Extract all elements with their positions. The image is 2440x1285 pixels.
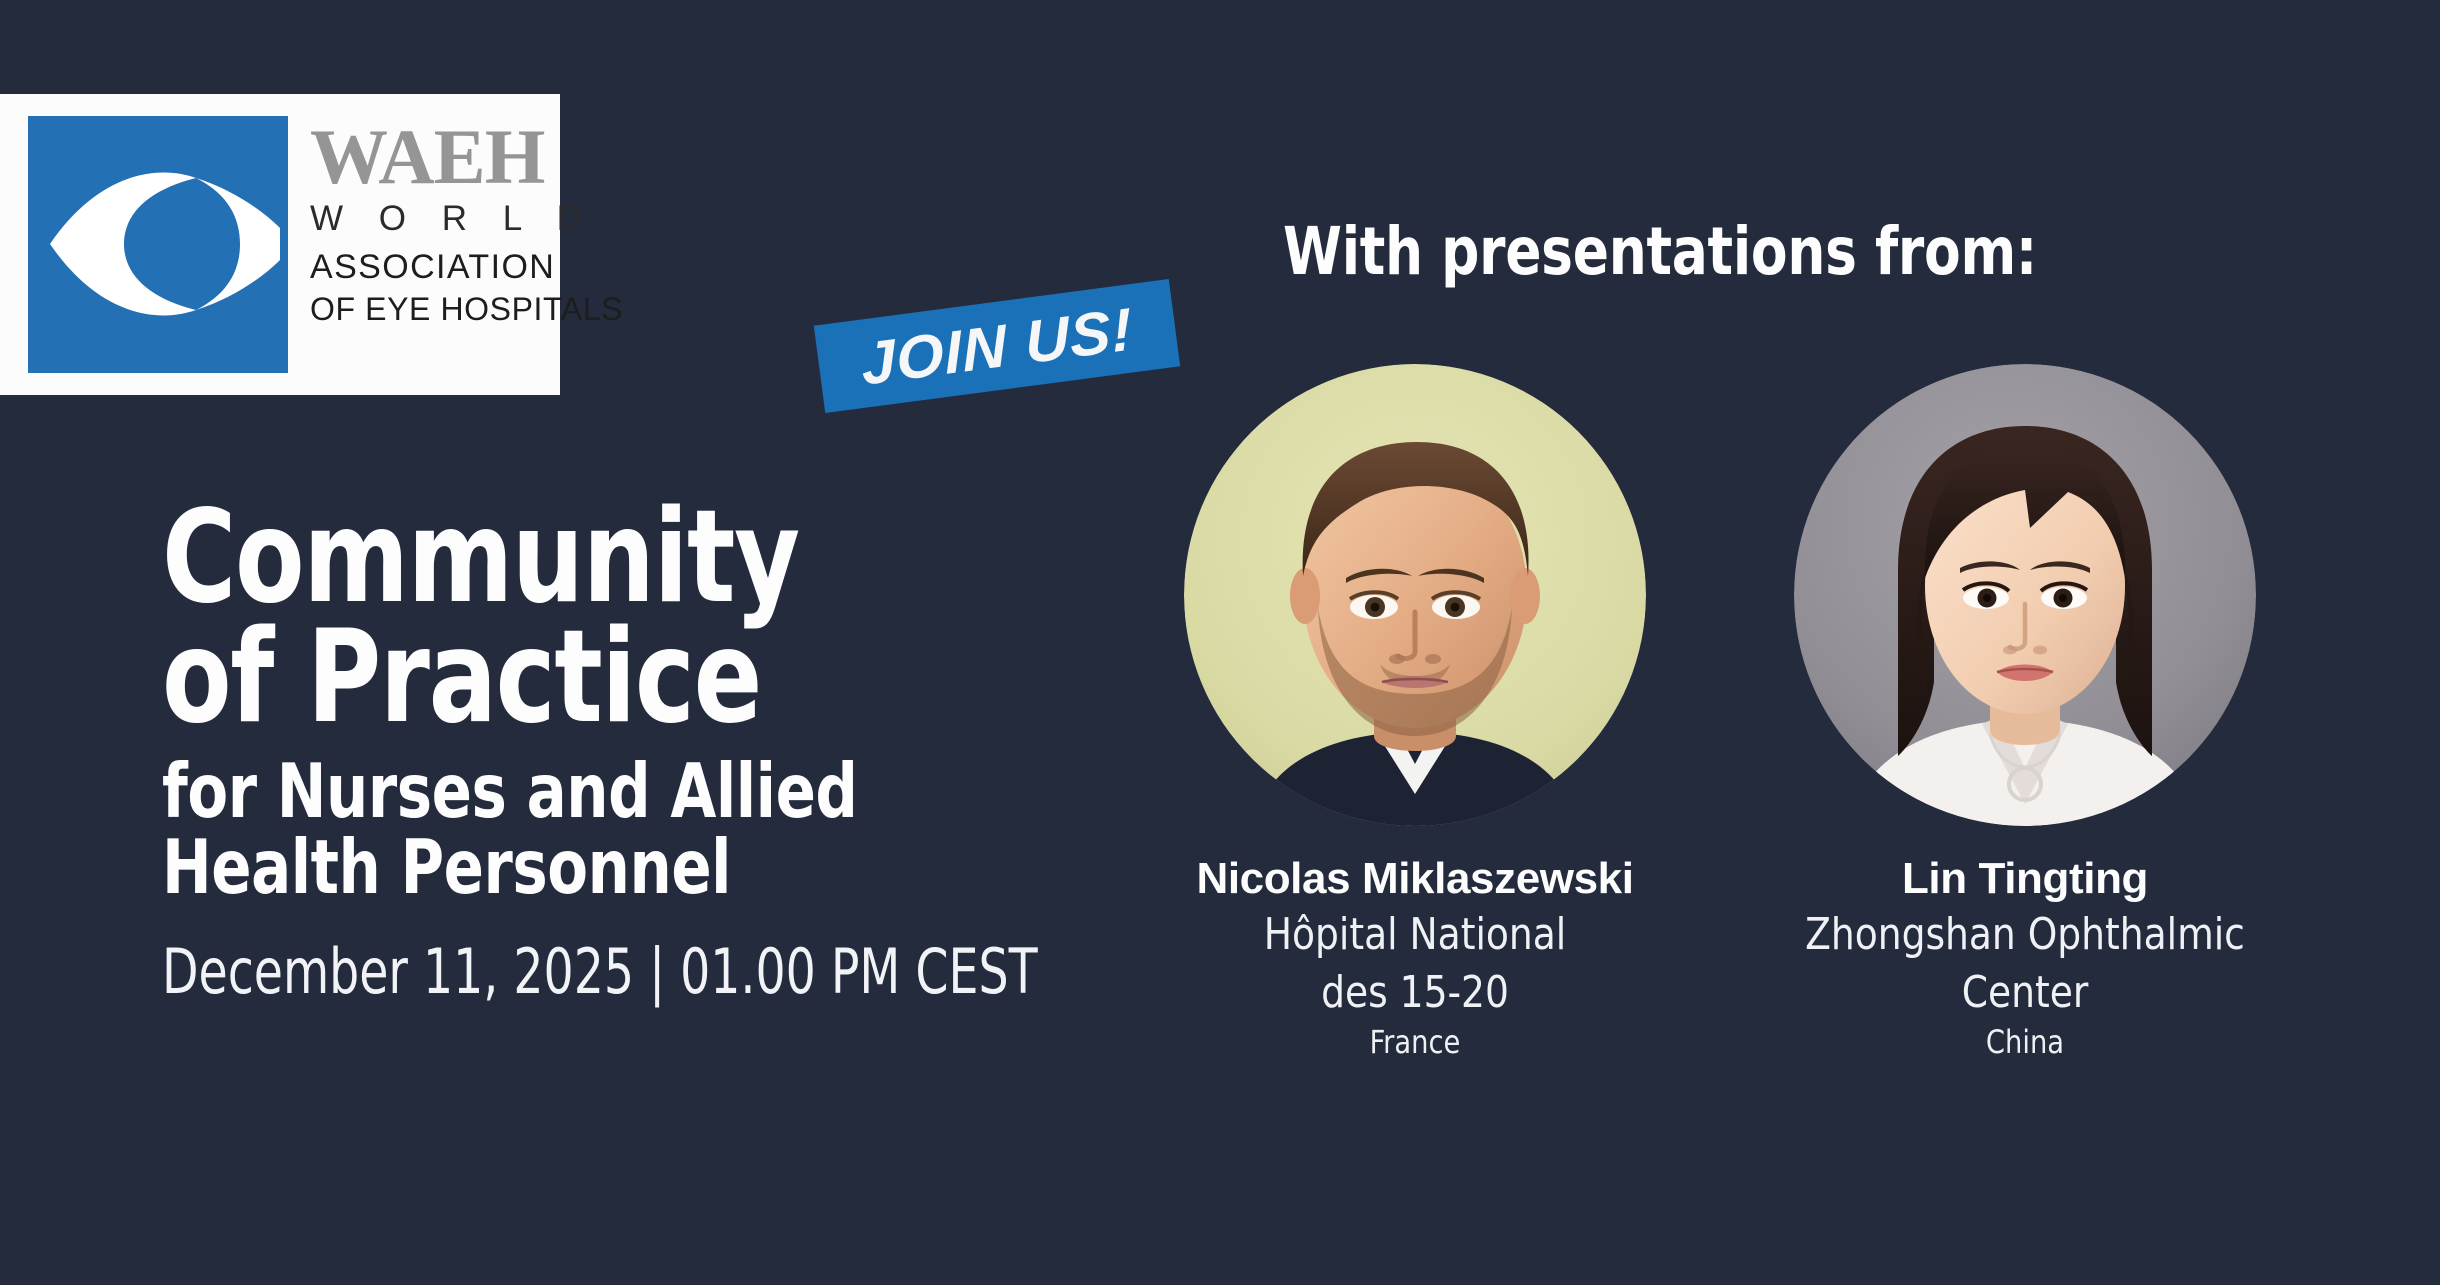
webinar-promo-poster: WAEH W O R L D ASSOCIATION OF EYE HOSPIT… bbox=[0, 0, 2440, 1285]
speaker-card: Nicolas Miklaszewski Hôpital National de… bbox=[1135, 364, 1695, 1061]
speaker-country: China bbox=[1759, 1023, 2291, 1061]
speaker-org-line-1: Hôpital National bbox=[1149, 909, 1681, 961]
speaker-card: Lin Tingting Zhongshan Ophthalmic Center… bbox=[1745, 364, 2305, 1061]
title-line-1: Community bbox=[162, 498, 954, 618]
subtitle-line-1: for Nurses and Allied bbox=[162, 753, 954, 830]
speaker-country: France bbox=[1149, 1023, 1681, 1061]
speaker-org-line-2: Center bbox=[1759, 967, 2291, 1019]
logo-line-assoc: ASSOCIATION bbox=[310, 245, 550, 289]
eye-icon bbox=[28, 116, 288, 373]
logo-acronym: WAEH bbox=[310, 120, 550, 194]
headline-block: Community of Practice for Nurses and All… bbox=[162, 498, 1062, 1006]
presenters-heading: With presentations from: bbox=[1283, 213, 2037, 290]
nicolas-miklaszewski-portrait bbox=[1184, 364, 1646, 826]
speaker-org-line-1: Zhongshan Ophthalmic bbox=[1759, 909, 2291, 961]
speaker-org-line-2: des 15-20 bbox=[1149, 967, 1681, 1019]
logo-wordmark: WAEH W O R L D ASSOCIATION OF EYE HOSPIT… bbox=[310, 120, 550, 331]
logo-line-world: W O R L D bbox=[310, 194, 550, 245]
join-us-badge-label: JOIN US! bbox=[859, 294, 1134, 399]
title-line-2: of Practice bbox=[162, 618, 954, 738]
join-us-badge[interactable]: JOIN US! bbox=[814, 279, 1180, 413]
logo-line-hosp: OF EYE HOSPITALS bbox=[310, 289, 550, 331]
lin-tingting-portrait bbox=[1794, 364, 2256, 826]
subtitle-line-2: Health Personnel bbox=[162, 829, 954, 906]
speaker-name: Lin Tingting bbox=[1745, 854, 2305, 903]
waeh-logo: WAEH W O R L D ASSOCIATION OF EYE HOSPIT… bbox=[0, 94, 560, 395]
speaker-name: Nicolas Miklaszewski bbox=[1135, 854, 1695, 903]
event-date-time: December 11, 2025 | 01.00 PM CEST bbox=[162, 938, 927, 1006]
